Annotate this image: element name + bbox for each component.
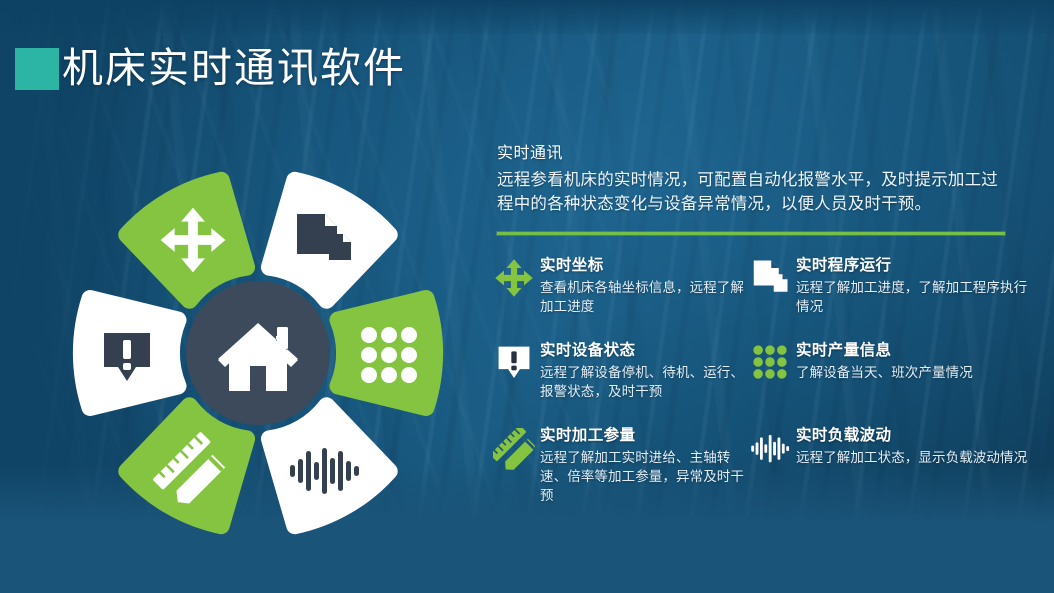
feature-row: 实时加工参量 远程了解加工实时进给、主轴转速、倍率等加工参量，异常及时干预 (492, 426, 1032, 521)
background-top-shade (0, 0, 1054, 34)
feature-text: 实时坐标 查看机床各轴坐标信息，远程了解加工进度 (536, 256, 748, 316)
feature-item-realtime-device-status[interactable]: 实时设备状态 远程了解设备停机、待机、运行、报警状态，及时干预 (492, 341, 748, 426)
feature-desc: 查看机床各轴坐标信息，远程了解加工进度 (540, 278, 748, 316)
feature-item-realtime-output-info[interactable]: 实时产量信息 了解设备当天、班次产量情况 (748, 341, 1032, 426)
feature-row: 实时设备状态 远程了解设备停机、待机、运行、报警状态，及时干预 实时产量 (492, 341, 1032, 426)
feature-desc: 远程了解设备停机、待机、运行、报警状态，及时干预 (540, 363, 748, 401)
feature-desc: 远程了解加工状态，显示负载波动情况 (796, 448, 1027, 467)
feature-grid: 实时坐标 查看机床各轴坐标信息，远程了解加工进度 实时程序运行 远程了解加工进度… (492, 256, 1032, 521)
feature-title: 实时产量信息 (796, 341, 973, 361)
panel-heading: 实时通讯 (497, 142, 1009, 166)
feature-item-realtime-coordinates[interactable]: 实时坐标 查看机床各轴坐标信息，远程了解加工进度 (492, 256, 748, 341)
waveform-icon (748, 426, 792, 472)
feature-title: 实时设备状态 (540, 341, 748, 361)
feature-text: 实时设备状态 远程了解设备停机、待机、运行、报警状态，及时干预 (536, 341, 748, 401)
feature-text: 实时产量信息 了解设备当天、班次产量情况 (792, 341, 973, 382)
hexagon-donut-diagram (62, 162, 454, 544)
dot-grid-icon (748, 341, 792, 387)
feature-text: 实时加工参量 远程了解加工实时进给、主轴转速、倍率等加工参量，异常及时干预 (536, 426, 748, 505)
move-arrows-icon (492, 256, 536, 302)
page-title: 机床实时通讯软件 (62, 40, 406, 96)
documents-icon (748, 256, 792, 302)
feature-item-realtime-program-run[interactable]: 实时程序运行 远程了解加工进度，了解加工程序执行情况 (748, 256, 1032, 341)
panel-body-text: 远程参看机床的实时情况，可配置自动化报警水平，及时提示加工过程中的各种状态变化与… (497, 168, 1009, 216)
feature-row: 实时坐标 查看机床各轴坐标信息，远程了解加工进度 实时程序运行 远程了解加工进度… (492, 256, 1032, 341)
dot-grid-icon (361, 327, 417, 383)
alert-badge-icon (492, 341, 536, 387)
feature-desc: 了解设备当天、班次产量情况 (796, 363, 973, 382)
feature-desc: 远程了解加工进度，了解加工程序执行情况 (796, 278, 1031, 316)
section-divider (497, 232, 1005, 235)
title-accent-block (15, 48, 59, 90)
feature-title: 实时加工参量 (540, 426, 748, 446)
feature-item-realtime-load-fluctuation[interactable]: 实时负载波动 远程了解加工状态，显示负载波动情况 (748, 426, 1032, 521)
feature-text: 实时负载波动 远程了解加工状态，显示负载波动情况 (792, 426, 1027, 467)
ruler-pencil-icon (492, 426, 536, 472)
feature-title: 实时坐标 (540, 256, 748, 276)
feature-text: 实时程序运行 远程了解加工进度，了解加工程序执行情况 (792, 256, 1031, 316)
description-panel: 实时通讯 远程参看机床的实时情况，可配置自动化报警水平，及时提示加工过程中的各种… (497, 142, 1009, 216)
feature-title: 实时程序运行 (796, 256, 1031, 276)
feature-item-realtime-machining-params[interactable]: 实时加工参量 远程了解加工实时进给、主轴转速、倍率等加工参量，异常及时干预 (492, 426, 748, 521)
feature-desc: 远程了解加工实时进给、主轴转速、倍率等加工参量，异常及时干预 (540, 448, 748, 505)
feature-title: 实时负载波动 (796, 426, 1027, 446)
slide-canvas: 机床实时通讯软件 (0, 0, 1054, 593)
